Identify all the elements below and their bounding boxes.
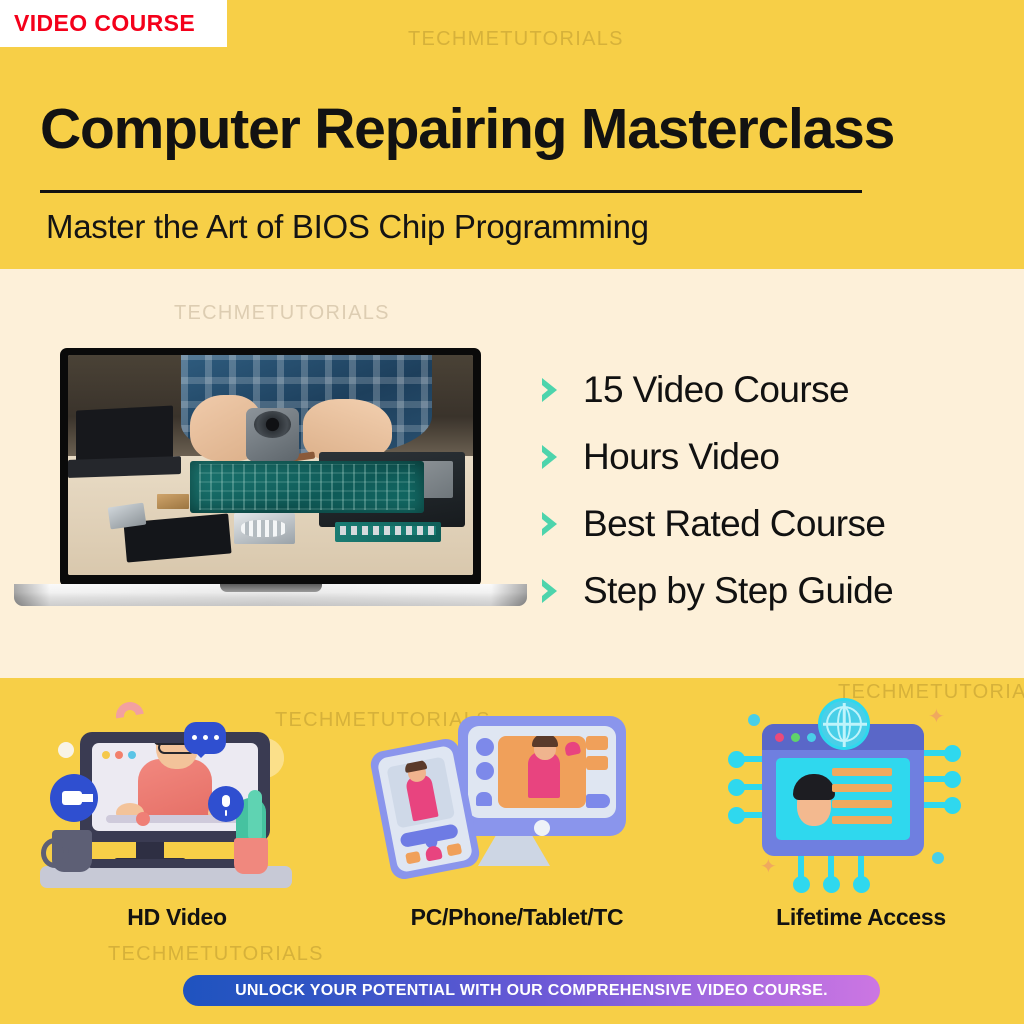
title-divider xyxy=(40,190,862,193)
chevron-right-icon xyxy=(533,507,567,541)
page-title: Computer Repairing Masterclass xyxy=(40,100,1000,160)
laptop-mockup xyxy=(14,348,527,613)
cta-label: UNLOCK YOUR POTENTIAL WITH OUR COMPREHEN… xyxy=(235,982,828,1000)
benefit-item-lifetime-access: ✦ ✦ Lifetime Access xyxy=(706,690,1016,940)
laptop-base xyxy=(14,584,527,606)
page-subtitle: Master the Art of BIOS Chip Programming xyxy=(46,208,986,246)
chevron-right-icon xyxy=(533,440,567,474)
feature-label: Best Rated Course xyxy=(583,503,885,545)
feature-item: Hours Video xyxy=(533,423,1013,490)
benefit-label: PC/Phone/Tablet/TC xyxy=(362,904,672,931)
course-preview-photo xyxy=(68,355,473,575)
benefit-item-multi-device: PC/Phone/Tablet/TC xyxy=(362,690,672,940)
video-course-badge: VIDEO COURSE xyxy=(0,0,227,47)
video-course-badge-label: VIDEO COURSE xyxy=(14,10,195,37)
benefit-item-hd-video: HD Video xyxy=(22,690,332,940)
feature-label: Hours Video xyxy=(583,436,779,478)
chevron-right-icon xyxy=(533,574,567,608)
benefit-label: Lifetime Access xyxy=(706,904,1016,931)
course-promo-poster: VIDEO COURSE TECHMETUTORIALS TECHMETUTOR… xyxy=(0,0,1024,1024)
chevron-right-icon xyxy=(533,373,567,407)
laptop-screen xyxy=(60,348,481,587)
benefit-label: HD Video xyxy=(22,904,332,931)
feature-list: 15 Video Course Hours Video Best Rated C… xyxy=(533,356,1013,624)
laptop-hinge-notch xyxy=(220,584,322,592)
benefits-row: HD Video xyxy=(0,690,1024,940)
feature-item: Best Rated Course xyxy=(533,490,1013,557)
cta-banner[interactable]: UNLOCK YOUR POTENTIAL WITH OUR COMPREHEN… xyxy=(183,975,880,1006)
multi-device-illustration xyxy=(362,690,672,902)
feature-label: Step by Step Guide xyxy=(583,570,893,612)
video-monitor-illustration xyxy=(22,690,332,902)
feature-label: 15 Video Course xyxy=(583,369,849,411)
feature-item: Step by Step Guide xyxy=(533,557,1013,624)
network-access-illustration: ✦ ✦ xyxy=(706,690,1016,902)
feature-item: 15 Video Course xyxy=(533,356,1013,423)
